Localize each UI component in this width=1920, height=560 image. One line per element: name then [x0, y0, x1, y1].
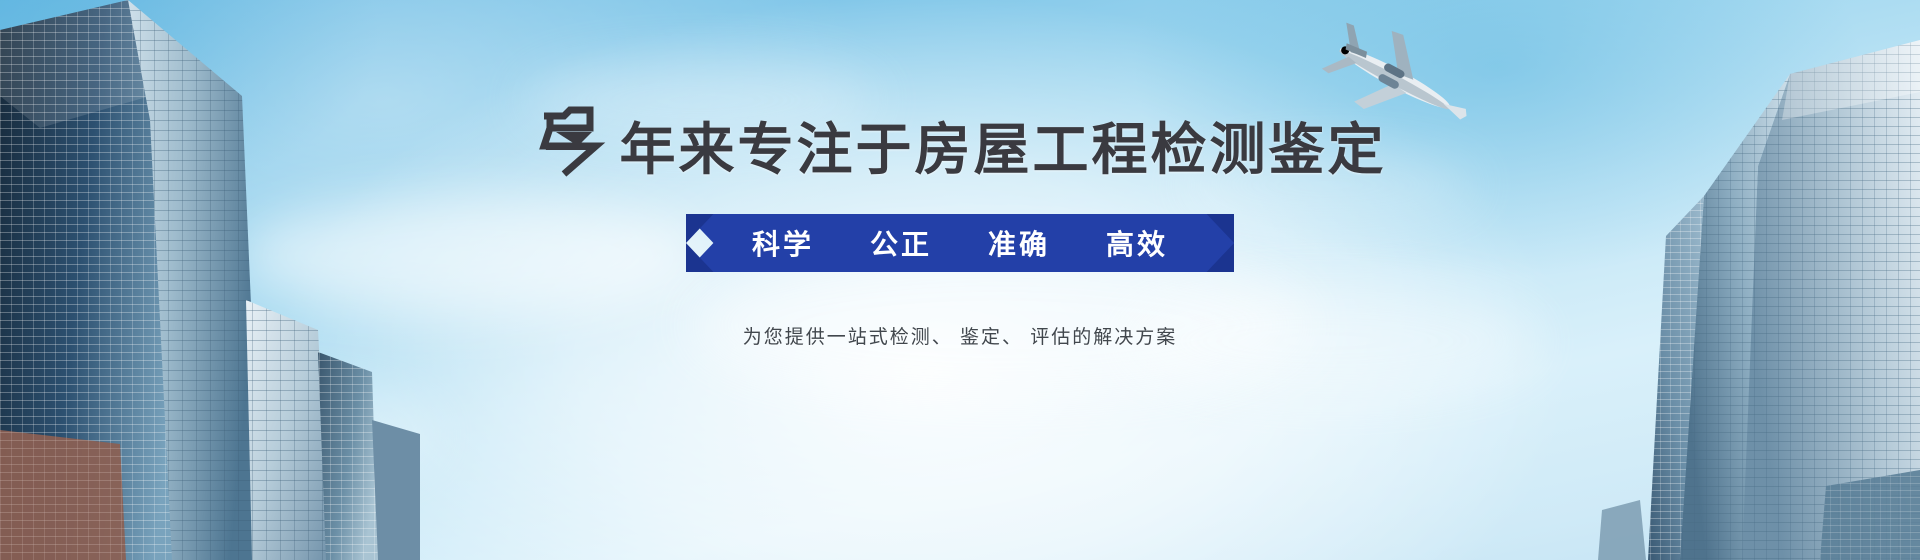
- banner-subtitle: 为您提供一站式检测、 鉴定、 评估的解决方案: [743, 322, 1178, 349]
- slogan-word: 科学: [752, 223, 814, 263]
- slogan-words: 科学 公正 准确 高效: [686, 223, 1234, 263]
- banner-content: 年来专注于房屋工程检测鉴定 科学 公正 准确 高效 为您提供一站式检测、 鉴定、…: [0, 0, 1920, 560]
- slogan-word: 准确: [988, 223, 1050, 263]
- slogan-word: 公正: [870, 223, 932, 263]
- page-title: 年来专注于房屋工程检测鉴定: [534, 106, 1387, 178]
- page-title-text: 年来专注于房屋工程检测鉴定: [620, 122, 1387, 178]
- slogan-ribbon: 科学 公正 准确 高效: [686, 214, 1234, 272]
- duo-logo-mark-icon: [534, 106, 616, 178]
- slogan-word: 高效: [1106, 223, 1168, 263]
- hero-banner: 年来专注于房屋工程检测鉴定 科学 公正 准确 高效 为您提供一站式检测、 鉴定、…: [0, 0, 1920, 560]
